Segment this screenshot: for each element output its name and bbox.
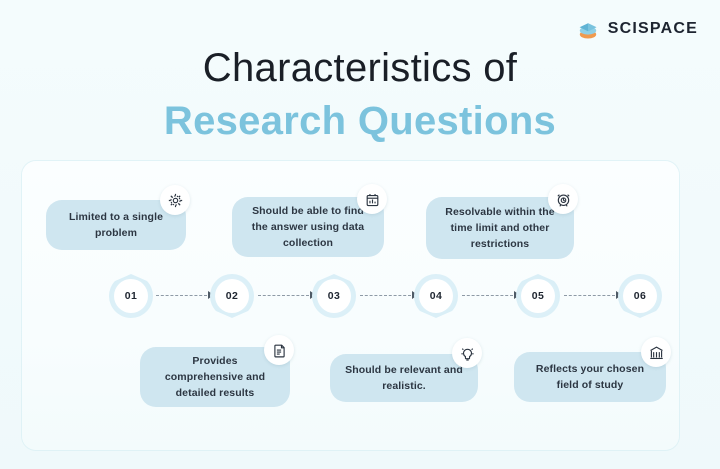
connector-arrow-4: [462, 294, 520, 296]
alarm-clock-icon: [548, 184, 578, 214]
page-title: Characteristics of Research Questions: [0, 44, 720, 146]
timeline: 01 02 03 04: [22, 268, 679, 326]
timeline-node-04[interactable]: 04: [414, 274, 458, 318]
node-number: 02: [215, 279, 249, 313]
timeline-node-06[interactable]: 06: [618, 274, 662, 318]
clipboard-document-icon: [264, 335, 294, 365]
timeline-node-02[interactable]: 02: [210, 274, 254, 318]
connector-arrow-2: [258, 294, 316, 296]
card-label: Provides comprehensive and detailed resu…: [154, 353, 276, 402]
dashed-line: [258, 295, 309, 296]
node-number: 06: [623, 279, 657, 313]
timeline-node-03[interactable]: 03: [312, 274, 356, 318]
timeline-node-01[interactable]: 01: [109, 274, 153, 318]
card-label: Reflects your chosen field of study: [528, 361, 652, 394]
node-number: 05: [521, 279, 555, 313]
node-number: 01: [114, 279, 148, 313]
dashed-line: [360, 295, 411, 296]
lightbulb-idea-icon: [452, 338, 482, 368]
dashed-line: [564, 295, 615, 296]
card-label: Limited to a single problem: [60, 209, 172, 242]
brand-logo: SCISPACE: [575, 16, 698, 42]
timeline-node-05[interactable]: 05: [516, 274, 560, 318]
data-chart-icon: [357, 184, 387, 214]
brand-name: SCISPACE: [608, 20, 698, 38]
node-number: 03: [317, 279, 351, 313]
card-label: Should be relevant and realistic.: [344, 362, 464, 395]
dashed-line: [156, 295, 207, 296]
card-label: Resolvable within the time limit and oth…: [440, 204, 560, 253]
connector-arrow-5: [564, 294, 622, 296]
card-label: Should be able to find the answer using …: [246, 203, 370, 252]
institution-building-icon: [641, 337, 671, 367]
gear-icon: [160, 185, 190, 215]
infographic-canvas: SCISPACE Characteristics of Research Que…: [0, 0, 720, 469]
stacked-layers-icon: [575, 16, 601, 42]
node-number: 04: [419, 279, 453, 313]
connector-arrow-1: [156, 294, 214, 296]
title-line-2: Research Questions: [0, 97, 720, 146]
dashed-line: [462, 295, 513, 296]
connector-arrow-3: [360, 294, 418, 296]
title-line-1: Characteristics of: [0, 44, 720, 93]
